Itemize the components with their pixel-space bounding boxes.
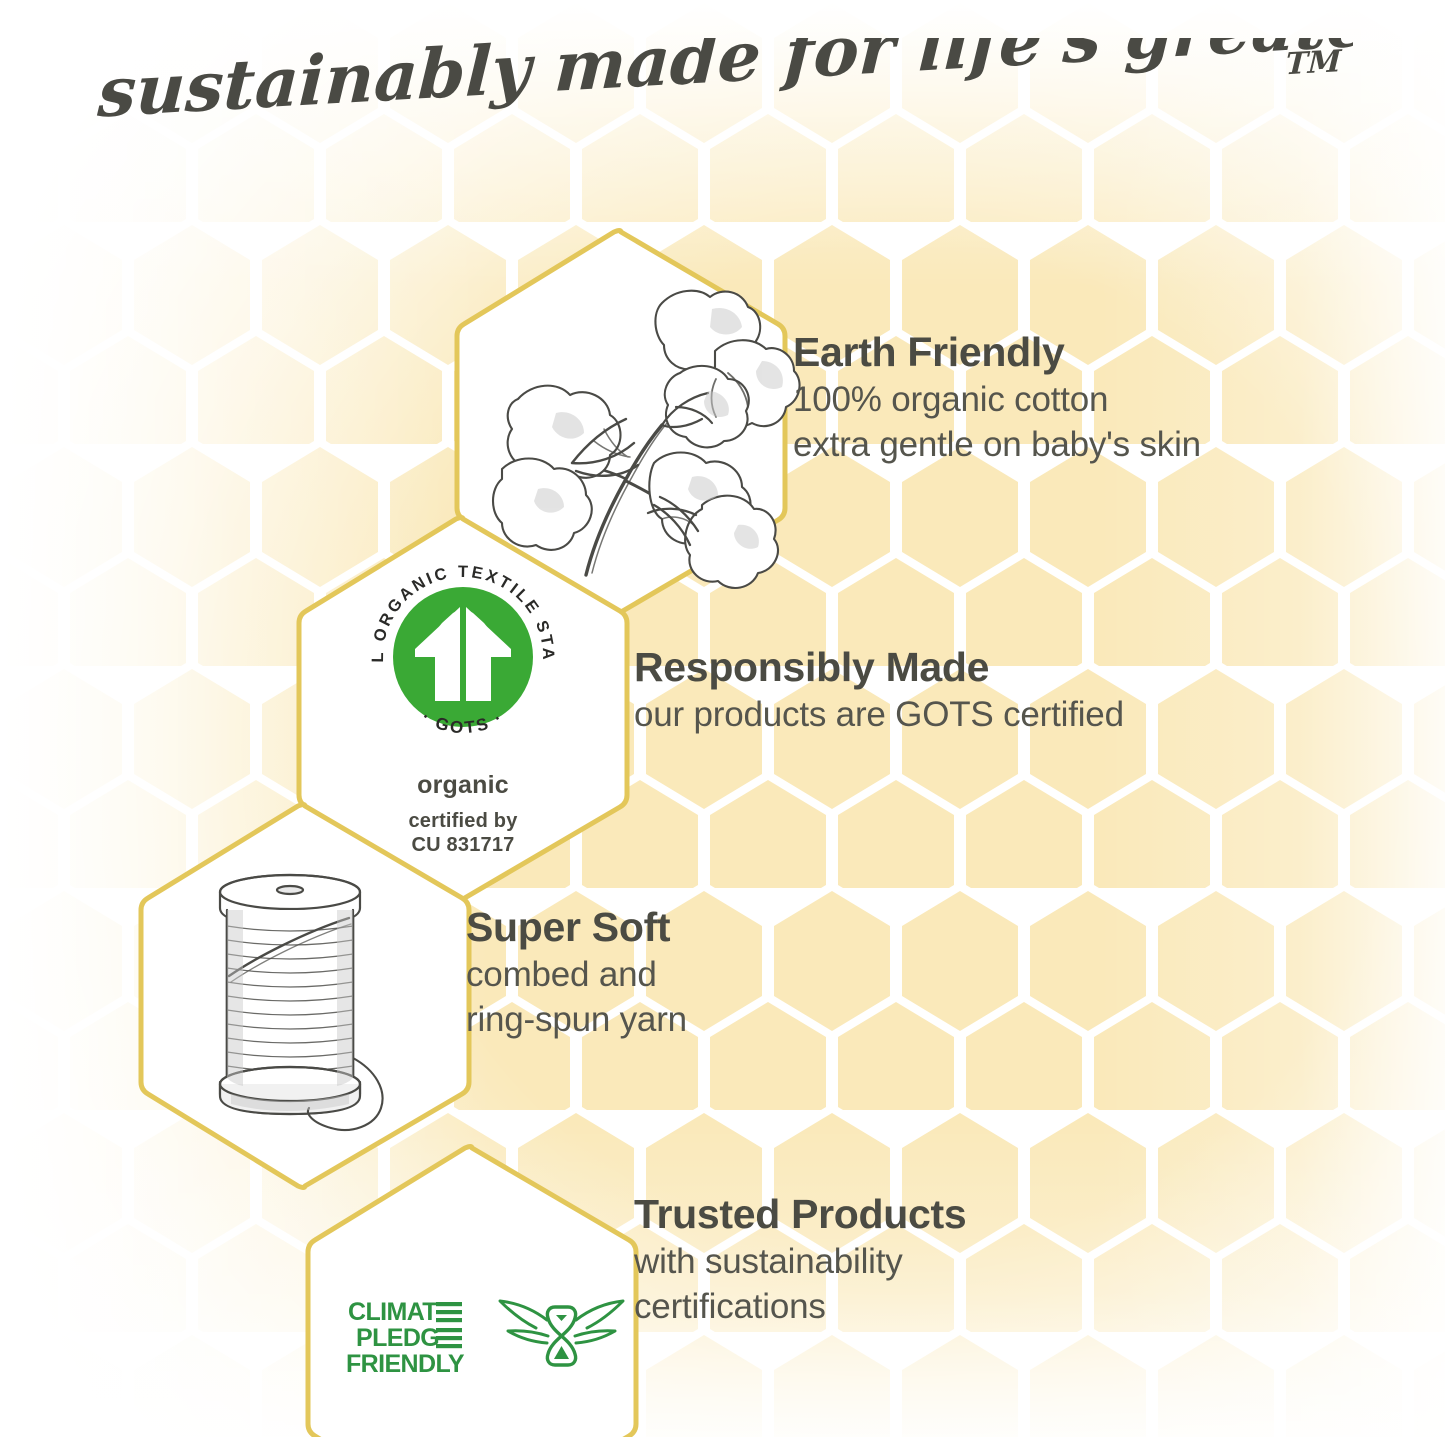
- cpf-bar-stack: [436, 1302, 462, 1348]
- feature-text-trusted-products: Trusted Products with sustainability cer…: [634, 1192, 1334, 1330]
- cpf-line-1: CLIMAT: [348, 1298, 437, 1326]
- cpf-line-3: FRIENDLY: [346, 1350, 465, 1378]
- feature-subline: ring-spun yarn: [466, 998, 1066, 1043]
- feature-title: Earth Friendly: [793, 330, 1393, 376]
- feature-hex-trusted-products: CLIMAT PLEDG FRIENDLY: [302, 1142, 642, 1437]
- feature-subline: with sustainability: [634, 1240, 1334, 1285]
- feature-title: Responsibly Made: [634, 645, 1394, 691]
- feature-text-super-soft: Super Soft combed and ring-spun yarn: [466, 905, 1066, 1043]
- feature-subline: 100% organic cotton: [793, 378, 1393, 423]
- feature-subline: our products are GOTS certified: [634, 693, 1394, 738]
- feature-subline: combed and: [466, 953, 1066, 998]
- feature-text-responsibly-made: Responsibly Made our products are GOTS c…: [634, 645, 1394, 738]
- feature-title: Super Soft: [466, 905, 1066, 951]
- feature-subline: extra gentle on baby's skin: [793, 423, 1393, 468]
- feature-hex-super-soft: [135, 800, 475, 1192]
- feature-text-earth-friendly: Earth Friendly 100% organic cotton extra…: [793, 330, 1393, 468]
- feature-subline: certifications: [634, 1285, 1334, 1330]
- thread-spool-illustration: [175, 846, 435, 1146]
- gots-certification-logo: GLOBAL ORGANIC TEXTILE STANDARD · GOTS ·: [357, 551, 569, 763]
- headline-banner: sustainably made for life's greatest joy…: [0, 38, 1445, 148]
- infographic-canvas: sustainably made for life's greatest joy…: [0, 0, 1445, 1437]
- trademark-symbol: TM: [1284, 44, 1343, 82]
- feature-title: Trusted Products: [634, 1192, 1334, 1238]
- gots-organic-label: organic: [417, 771, 509, 800]
- cpf-line-2: PLEDG: [356, 1324, 439, 1352]
- headline-main: sustainably made for life's greatest joy: [94, 38, 1352, 134]
- climate-pledge-friendly-logo: CLIMAT PLEDG FRIENDLY: [342, 1284, 602, 1392]
- headline-script-text: sustainably made for life's greatest joy…: [93, 38, 1353, 148]
